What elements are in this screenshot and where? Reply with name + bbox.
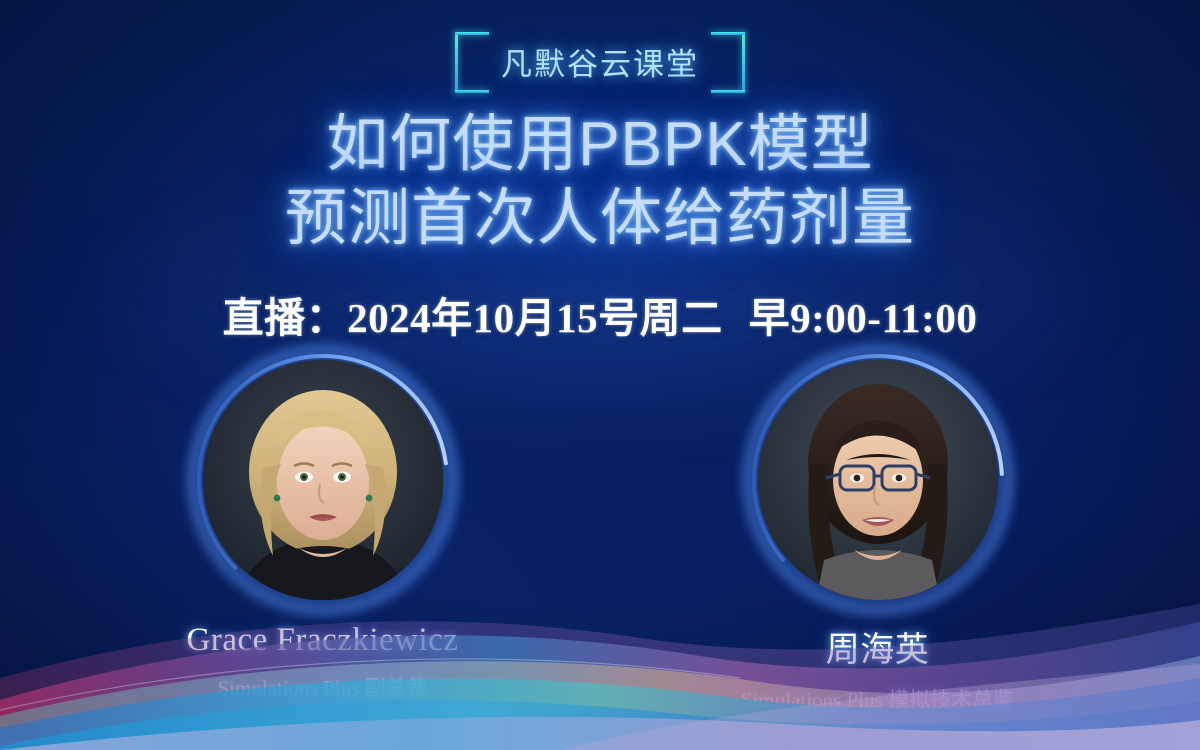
- right-bracket-icon: [711, 32, 745, 93]
- schedule-prefix: 直播：: [223, 295, 348, 341]
- left-bracket-icon: [455, 32, 489, 93]
- webinar-poster: 凡默谷云课堂 如何使用PBPK模型 预测首次人体给药剂量 直播：2024年10月…: [0, 0, 1200, 750]
- title-line-2: 预测首次人体给药剂量: [0, 182, 1200, 256]
- schedule-date: 2024年10月15号周二: [347, 295, 723, 341]
- title-line-1: 如何使用PBPK模型: [0, 108, 1200, 182]
- page-title: 如何使用PBPK模型 预测首次人体给药剂量: [0, 108, 1200, 256]
- badge-container: 凡默谷云课堂: [0, 32, 1200, 93]
- bottom-wave-ribbons: [0, 560, 1200, 750]
- channel-badge: 凡默谷云课堂: [455, 32, 745, 93]
- schedule-line: 直播：2024年10月15号周二早9:00-11:00: [0, 284, 1200, 344]
- schedule-time: 早9:00-11:00: [749, 295, 978, 341]
- channel-badge-label: 凡默谷云课堂: [501, 47, 699, 82]
